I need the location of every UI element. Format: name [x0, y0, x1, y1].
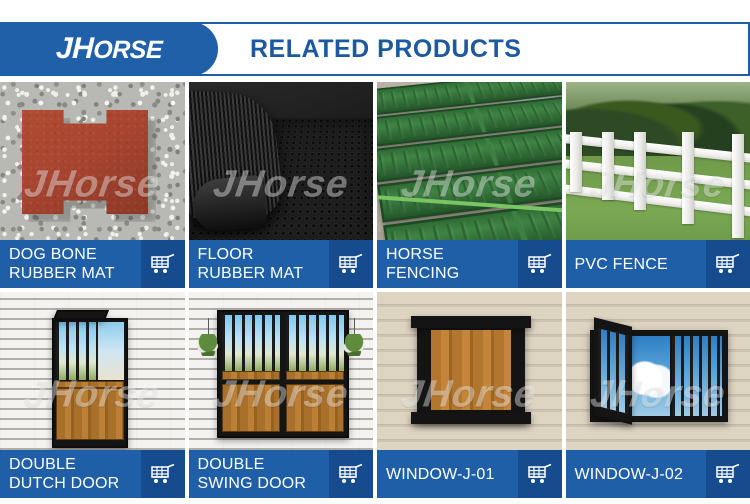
- door-upper-bars: [56, 322, 98, 380]
- window-open-leaf-bars: [598, 328, 628, 413]
- shopping-cart-icon: [527, 253, 553, 275]
- window-right-bars: [672, 336, 722, 416]
- product-label-bar[interactable]: WINDOW-J-01: [377, 450, 562, 498]
- product-label-bar[interactable]: HORSE FENCING: [377, 240, 562, 288]
- product-grid: JHorse DOG BONE RUBBER MAT: [0, 82, 750, 500]
- add-to-cart-button[interactable]: [329, 450, 373, 498]
- product-card-window-j-02[interactable]: JHorse WINDOW-J-02: [566, 292, 750, 498]
- product-label-line2: SWING DOOR: [198, 474, 330, 493]
- product-card-pvc-fence[interactable]: JHorse PVC FENCE: [566, 82, 750, 288]
- product-card-dog-bone-rubber-mat[interactable]: JHorse DOG BONE RUBBER MAT: [0, 82, 185, 288]
- product-label-line1: WINDOW-J-02: [575, 465, 707, 484]
- door-left-wood-panel: [222, 384, 280, 432]
- add-to-cart-button[interactable]: [706, 450, 750, 498]
- add-to-cart-button[interactable]: [329, 240, 373, 288]
- brand-logo: JHORSE: [0, 22, 218, 76]
- product-label-bar[interactable]: DOUBLE DUTCH DOOR: [0, 450, 185, 498]
- door-wood-panel: [56, 388, 124, 440]
- fence-panel-stack: [377, 82, 562, 257]
- shopping-cart-icon: [150, 463, 176, 485]
- product-card-floor-rubber-mat[interactable]: JHorse FLOOR RUBBER MAT: [189, 82, 374, 288]
- shopping-cart-icon: [715, 463, 741, 485]
- fence-post: [732, 134, 744, 238]
- product-label-line1: WINDOW-J-01: [386, 465, 518, 484]
- door-mid-rail: [56, 381, 124, 388]
- window-wood-shutter: [431, 330, 511, 410]
- add-to-cart-button[interactable]: [141, 450, 185, 498]
- product-label-line1: PVC FENCE: [575, 255, 707, 274]
- add-to-cart-button[interactable]: [141, 240, 185, 288]
- banner-header: JHORSE RELATED PRODUCTS: [0, 22, 750, 76]
- product-label: WINDOW-J-02: [566, 450, 707, 498]
- fence-post: [634, 132, 646, 210]
- hanging-flower-basket: [195, 334, 221, 356]
- door-right-rail: [286, 371, 344, 380]
- add-to-cart-button[interactable]: [518, 240, 562, 288]
- product-label: DOG BONE RUBBER MAT: [0, 240, 141, 288]
- dogbone-paver: [22, 110, 148, 214]
- product-label: HORSE FENCING: [377, 240, 518, 288]
- product-label: PVC FENCE: [566, 240, 707, 288]
- product-label-line2: FENCING: [386, 264, 518, 283]
- shopping-cart-icon: [527, 463, 553, 485]
- add-to-cart-button[interactable]: [706, 240, 750, 288]
- product-label-line2: DUTCH DOOR: [9, 474, 141, 493]
- door-right-bars: [286, 315, 344, 371]
- product-label: FLOOR RUBBER MAT: [189, 240, 330, 288]
- product-card-double-dutch-door[interactable]: JHorse DOUBLE DUTCH DOOR: [0, 292, 185, 498]
- shopping-cart-icon: [338, 253, 364, 275]
- product-label-line1: HORSE: [386, 245, 518, 264]
- product-label-bar[interactable]: WINDOW-J-02: [566, 450, 750, 498]
- door-right-wood-panel: [286, 384, 344, 432]
- page-title: RELATED PRODUCTS: [250, 22, 521, 76]
- product-label-bar[interactable]: FLOOR RUBBER MAT: [189, 240, 374, 288]
- related-products-banner: JHORSE RELATED PRODUCTS JHorse DOG BONE …: [0, 0, 750, 504]
- product-label-line2: RUBBER MAT: [9, 264, 141, 283]
- product-label-line1: DOG BONE: [9, 245, 141, 264]
- cloud: [628, 354, 670, 398]
- product-label: WINDOW-J-01: [377, 450, 518, 498]
- brand-logo-text: JHORSE: [55, 32, 162, 66]
- product-label-bar[interactable]: PVC FENCE: [566, 240, 750, 288]
- shopping-cart-icon: [150, 253, 176, 275]
- product-label: DOUBLE SWING DOOR: [189, 450, 330, 498]
- shopping-cart-icon: [715, 253, 741, 275]
- shopping-cart-icon: [338, 463, 364, 485]
- window-head-trim: [411, 316, 531, 328]
- door-opening: [98, 322, 124, 380]
- product-label-line2: RUBBER MAT: [198, 264, 330, 283]
- product-label: DOUBLE DUTCH DOOR: [0, 450, 141, 498]
- product-card-double-swing-door[interactable]: JHorse DOUBLE SWING DOOR: [189, 292, 374, 498]
- product-label-line1: DOUBLE: [198, 455, 330, 474]
- door-open-leaf-top: [53, 310, 109, 320]
- product-label-bar[interactable]: DOG BONE RUBBER MAT: [0, 240, 185, 288]
- product-label-line1: FLOOR: [198, 245, 330, 264]
- product-label-line1: DOUBLE: [9, 455, 141, 474]
- product-card-window-j-01[interactable]: JHorse WINDOW-J-01: [377, 292, 562, 498]
- product-label-bar[interactable]: DOUBLE SWING DOOR: [189, 450, 374, 498]
- door-left-bars: [222, 315, 280, 371]
- fence-post: [570, 132, 582, 192]
- hanging-flower-basket: [341, 334, 367, 356]
- add-to-cart-button[interactable]: [518, 450, 562, 498]
- door-left-rail: [222, 371, 280, 380]
- product-card-horse-fencing[interactable]: JHorse HORSE FENCING: [377, 82, 562, 288]
- window-sill-trim: [411, 412, 531, 424]
- fence-post: [602, 132, 614, 200]
- fence-post: [682, 132, 694, 224]
